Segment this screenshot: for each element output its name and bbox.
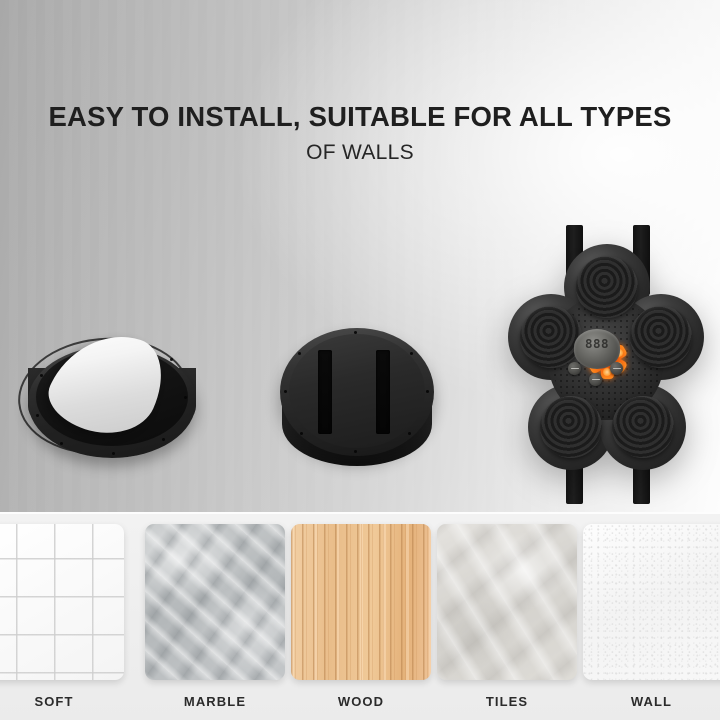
band-divider: [0, 512, 720, 514]
swatch-label-marble: MARBLE: [145, 694, 285, 709]
headline-line-1: EASY TO INSTALL, SUITABLE FOR ALL TYPES: [0, 101, 720, 133]
mounting-rail-right: [376, 350, 390, 434]
swatch-label-tiles: TILES: [437, 694, 577, 709]
product-banner: EASY TO INSTALL, SUITABLE FOR ALL TYPES …: [0, 0, 720, 720]
swatch-texture-wood: [291, 524, 431, 680]
swatch-texture-tiles: [437, 524, 577, 680]
swatch-texture-wall: [583, 524, 720, 680]
control-button-right[interactable]: [610, 362, 623, 375]
target-pad-bottom-left[interactable]: [540, 396, 602, 458]
swatch-texture-soft: [0, 524, 124, 680]
swatch-texture-marble: [145, 524, 285, 680]
swatch-cell-marble[interactable]: MARBLE: [145, 524, 285, 709]
headline: EASY TO INSTALL, SUITABLE FOR ALL TYPES …: [0, 101, 720, 166]
material-swatch-band: SOFT MARBLE WOOD TILES WALL: [0, 512, 720, 720]
control-button-center[interactable]: [589, 373, 602, 386]
product-mounting-disc-backplate: [280, 328, 434, 474]
swatch-label-soft: SOFT: [0, 694, 124, 709]
mounting-rail-left: [318, 350, 332, 434]
swatch-cell-wood[interactable]: WOOD: [291, 524, 431, 709]
swatch-cell-tiles[interactable]: TILES: [437, 524, 577, 709]
swatch-label-wood: WOOD: [291, 694, 431, 709]
swatch-cell-wall[interactable]: WALL: [583, 524, 720, 709]
trainer-body: 888: [506, 244, 704, 480]
product-mounting-disc-adhesive: [12, 330, 202, 470]
target-pad-top[interactable]: [576, 256, 638, 318]
target-pad-bottom-right[interactable]: [612, 396, 674, 458]
swatch-cell-soft[interactable]: SOFT: [0, 524, 124, 709]
control-button-left[interactable]: [568, 362, 581, 375]
headline-line-2: OF WALLS: [0, 140, 720, 165]
swatch-label-wall: WALL: [583, 694, 720, 709]
product-boxing-trainer: 888: [500, 216, 710, 506]
plate-face: [289, 334, 425, 448]
display-value: 888: [574, 336, 620, 351]
